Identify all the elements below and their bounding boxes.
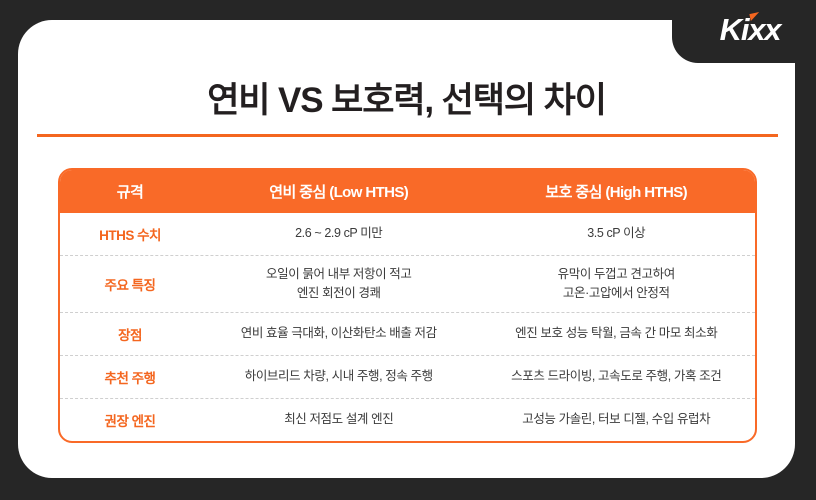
row-label-key-features: 주요 특징: [60, 274, 200, 294]
kixx-logo: Kixx: [720, 14, 781, 45]
row-value-high-line1: 스포츠 드라이빙, 고속도로 주행, 가혹 조건: [511, 369, 721, 383]
column-header-low-hths: 연비 중심 (Low HTHS): [200, 181, 478, 202]
row-value-high-line2: 고온·고압에서 안정적: [478, 284, 756, 303]
row-value-low: 오일이 묽어 내부 저항이 적고 엔진 회전이 경쾌: [200, 265, 478, 304]
row-value-high-line1: 유막이 두껍고 견고하여: [558, 267, 675, 281]
row-value-high-line1: 엔진 보호 성능 탁월, 금속 간 마모 최소화: [515, 326, 717, 340]
row-value-low-line1: 최신 저점도 설계 엔진: [284, 412, 393, 426]
row-value-low: 하이브리드 차량, 시내 주행, 정속 주행: [200, 367, 478, 386]
table-row: 권장 엔진 최신 저점도 설계 엔진 고성능 가솔린, 터보 디젤, 수입 유럽…: [60, 399, 755, 441]
title-underline-rule: [37, 134, 778, 137]
row-label-recommended-driving: 추천 주행: [60, 367, 200, 387]
comparison-table: 규격 연비 중심 (Low HTHS) 보호 중심 (High HTHS) HT…: [58, 168, 757, 443]
row-value-low: 2.6 ~ 2.9 cP 미만: [200, 224, 478, 243]
row-value-low-line1: 하이브리드 차량, 시내 주행, 정속 주행: [245, 369, 433, 383]
row-value-high-line1: 고성능 가솔린, 터보 디젤, 수입 유럽차: [522, 412, 710, 426]
table-row: 주요 특징 오일이 묽어 내부 저항이 적고 엔진 회전이 경쾌 유막이 두껍고…: [60, 256, 755, 313]
table-row: 장점 연비 효율 극대화, 이산화탄소 배출 저감 엔진 보호 성능 탁월, 금…: [60, 313, 755, 356]
row-value-high: 스포츠 드라이빙, 고속도로 주행, 가혹 조건: [478, 367, 756, 386]
column-header-spec: 규격: [60, 181, 200, 202]
content-card: 연비 VS 보호력, 선택의 차이 규격 연비 중심 (Low HTHS) 보호…: [18, 20, 795, 478]
slide-canvas: 연비 VS 보호력, 선택의 차이 규격 연비 중심 (Low HTHS) 보호…: [0, 0, 816, 500]
row-label-recommended-engine: 권장 엔진: [60, 410, 200, 430]
row-value-low-line1: 오일이 묽어 내부 저항이 적고: [266, 267, 412, 281]
row-value-low-line1: 2.6 ~ 2.9 cP 미만: [295, 226, 382, 240]
row-value-high: 고성능 가솔린, 터보 디젤, 수입 유럽차: [478, 410, 756, 429]
row-value-high-line1: 3.5 cP 이상: [587, 226, 645, 240]
column-header-high-hths: 보호 중심 (High HTHS): [478, 181, 756, 202]
row-value-low-line2: 엔진 회전이 경쾌: [200, 284, 478, 303]
row-value-high: 엔진 보호 성능 탁월, 금속 간 마모 최소화: [478, 324, 756, 343]
row-label-advantages: 장점: [60, 324, 200, 344]
brand-logo-panel: Kixx: [672, 0, 816, 63]
row-value-low-line1: 연비 효율 극대화, 이산화탄소 배출 저감: [241, 326, 437, 340]
row-value-high: 3.5 cP 이상: [478, 224, 756, 243]
row-value-high: 유막이 두껍고 견고하여 고온·고압에서 안정적: [478, 265, 756, 304]
row-label-hths-value: HTHS 수치: [60, 224, 200, 244]
row-value-low: 최신 저점도 설계 엔진: [200, 410, 478, 429]
table-row: 추천 주행 하이브리드 차량, 시내 주행, 정속 주행 스포츠 드라이빙, 고…: [60, 356, 755, 399]
table-header-row: 규격 연비 중심 (Low HTHS) 보호 중심 (High HTHS): [60, 170, 755, 213]
table-row: HTHS 수치 2.6 ~ 2.9 cP 미만 3.5 cP 이상: [60, 213, 755, 256]
row-value-low: 연비 효율 극대화, 이산화탄소 배출 저감: [200, 324, 478, 343]
page-title: 연비 VS 보호력, 선택의 차이: [18, 72, 795, 123]
